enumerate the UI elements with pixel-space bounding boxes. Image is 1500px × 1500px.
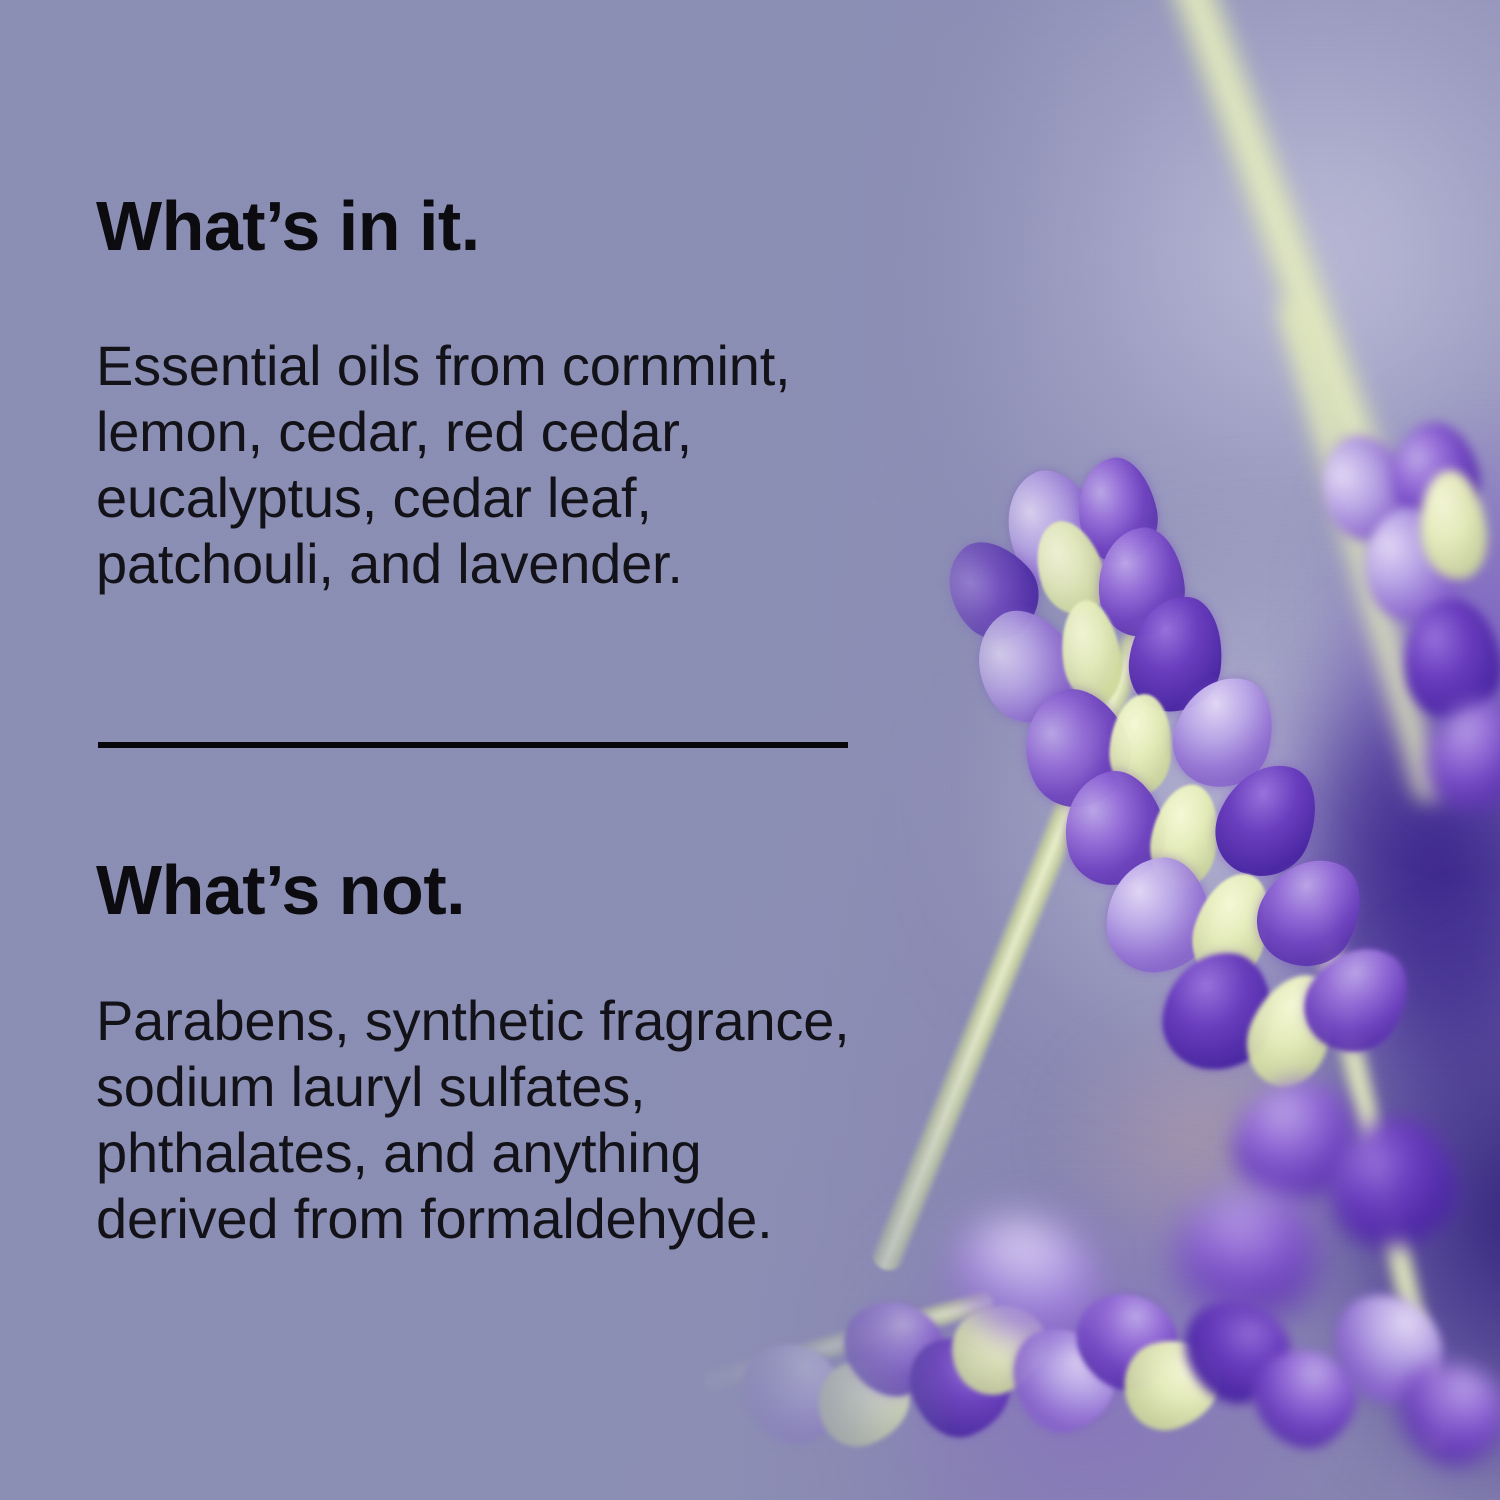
whats-not-heading: What’s not. (96, 855, 465, 925)
section-divider (98, 742, 848, 748)
card-content: What’s in it. Essential oils from cornmi… (0, 0, 1500, 1500)
whats-in-it-body: Essential oils from cornmint, lemon, ced… (96, 333, 996, 597)
whats-in-it-heading: What’s in it. (96, 191, 480, 261)
whats-not-body: Parabens, synthetic fragrance, sodium la… (96, 988, 1076, 1252)
product-info-card: What’s in it. Essential oils from cornmi… (0, 0, 1500, 1500)
